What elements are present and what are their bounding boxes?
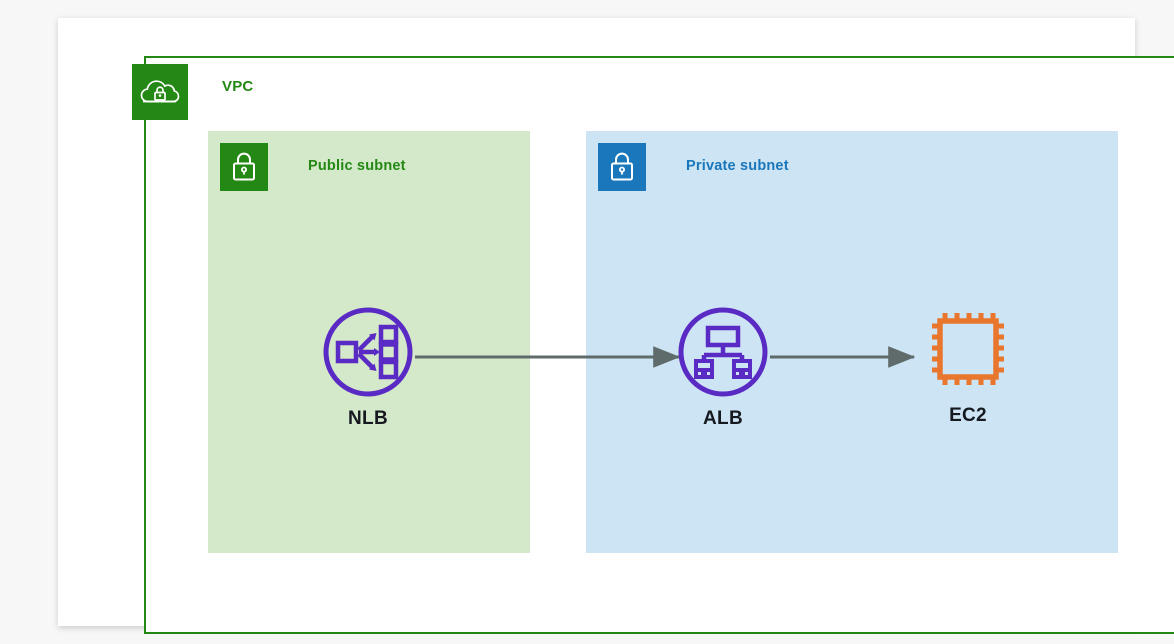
node-ec2-label: EC2 [908,405,1028,427]
private-subnet-label: Private subnet [686,158,789,174]
network-load-balancer-icon [320,304,416,400]
node-nlb[interactable]: NLB [308,304,428,430]
padlock-icon-private [598,143,646,191]
diagram-canvas: VPC Public subnet [0,0,1174,644]
application-load-balancer-icon [675,304,771,400]
node-ec2[interactable]: EC2 [908,301,1028,427]
diagram-card: VPC Public subnet [58,18,1135,626]
padlock-icon-public [220,143,268,191]
vpc-cloud-lock-icon [132,64,188,120]
ec2-instance-chip-icon [920,301,1016,397]
public-subnet-label: Public subnet [308,158,406,174]
node-alb-label: ALB [663,408,783,430]
vpc-label: VPC [222,78,253,95]
node-nlb-label: NLB [308,408,428,430]
node-alb[interactable]: ALB [663,304,783,430]
